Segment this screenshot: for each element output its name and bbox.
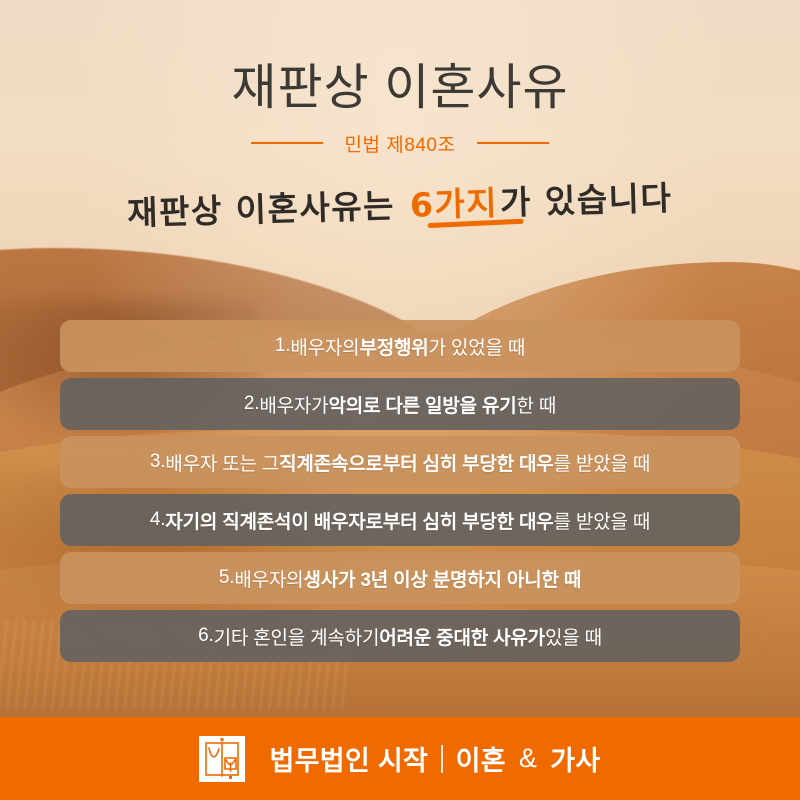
reason-text-1-2: 부정행위 xyxy=(359,333,428,360)
reason-text-4-3: 를 받았을 때 xyxy=(554,507,651,534)
reason-text-6-1: 기타 혼인을 계속하기 xyxy=(214,623,380,650)
law-reference-label: 민법 제840조 xyxy=(345,130,456,157)
footer-bar: 법무법인 시작 이혼 & 가사 xyxy=(0,717,800,800)
headline-accent-count: 6가지 xyxy=(408,183,501,225)
headline-before: 재판상 이혼사유는 xyxy=(127,186,409,233)
headline-after: 가 있습니다 xyxy=(500,178,673,222)
reason-number-1: 1. xyxy=(275,335,290,357)
poster-canvas: 재판상 이혼사유 민법 제840조 재판상 이혼사유는 6가지가 있습니다 1.… xyxy=(0,0,800,800)
reason-text-3-1: 배우자 또는 그 xyxy=(165,449,279,476)
reason-number-2: 2. xyxy=(244,393,259,415)
reason-bar-5: 5. 배우자의 생사가 3년 이상 분명하지 아니한 때 xyxy=(60,552,740,604)
page-title: 재판상 이혼사유 xyxy=(0,62,800,116)
headline-handwritten: 재판상 이혼사유는 6가지가 있습니다 xyxy=(127,171,673,234)
divorce-reason-list: 1. 배우자의 부정행위가 있었을 때2. 배우자가 악의로 다른 일방을 유기… xyxy=(60,320,740,668)
reason-text-1-1: 배우자의 xyxy=(290,333,359,360)
reason-text-2-3: 한 때 xyxy=(516,391,556,418)
reason-number-4: 4. xyxy=(150,509,165,531)
reason-bar-2: 2. 배우자가 악의로 다른 일방을 유기한 때 xyxy=(60,378,740,430)
practice-area-right: 가사 xyxy=(550,739,600,778)
reason-text-5-1: 배우자의 xyxy=(234,565,303,592)
reason-text-2-1: 배우자가 xyxy=(259,391,328,418)
reason-text-3-3: 를 받았을 때 xyxy=(554,449,651,476)
reason-bar-3: 3. 배우자 또는 그 직계존속으로부터 심히 부당한 대우를 받았을 때 xyxy=(60,436,740,488)
reason-bar-1: 1. 배우자의 부정행위가 있었을 때 xyxy=(60,320,740,372)
reason-bar-6: 6. 기타 혼인을 계속하기 어려운 중대한 사유가 있을 때 xyxy=(60,610,740,662)
reason-text-3-2: 직계존속으로부터 심히 부당한 대우 xyxy=(279,449,553,476)
firm-logo-icon xyxy=(199,736,245,782)
practice-area-left: 이혼 xyxy=(456,739,506,778)
reason-text-6-3: 있을 때 xyxy=(545,623,602,650)
reason-number-3: 3. xyxy=(150,451,165,473)
rule-left-icon xyxy=(251,142,323,144)
rule-right-icon xyxy=(477,142,549,144)
firm-name-label: 법무법인 시작 xyxy=(269,739,428,778)
reason-number-6: 6. xyxy=(198,625,213,647)
reason-text-6-2: 어려운 중대한 사유가 xyxy=(379,623,545,650)
reason-text-5-2: 생사가 3년 이상 분명하지 아니한 때 xyxy=(303,565,581,592)
reason-number-5: 5. xyxy=(219,567,234,589)
reason-bar-4: 4. 자기의 직계존석이 배우자로부터 심히 부당한 대우를 받았을 때 xyxy=(60,494,740,546)
reason-text-4-2: 자기의 직계존석이 배우자로부터 심히 부당한 대우 xyxy=(165,507,553,534)
footer-brand-text: 법무법인 시작 이혼 & 가사 xyxy=(269,739,600,778)
reason-text-2-2: 악의로 다른 일방을 유기 xyxy=(328,391,516,418)
footer-divider-icon xyxy=(441,745,443,773)
reason-text-1-3: 가 있었을 때 xyxy=(429,333,526,360)
poster-header: 재판상 이혼사유 민법 제840조 재판상 이혼사유는 6가지가 있습니다 xyxy=(0,0,800,227)
ampersand-label: & xyxy=(519,743,537,774)
law-reference-row: 민법 제840조 xyxy=(0,130,800,157)
